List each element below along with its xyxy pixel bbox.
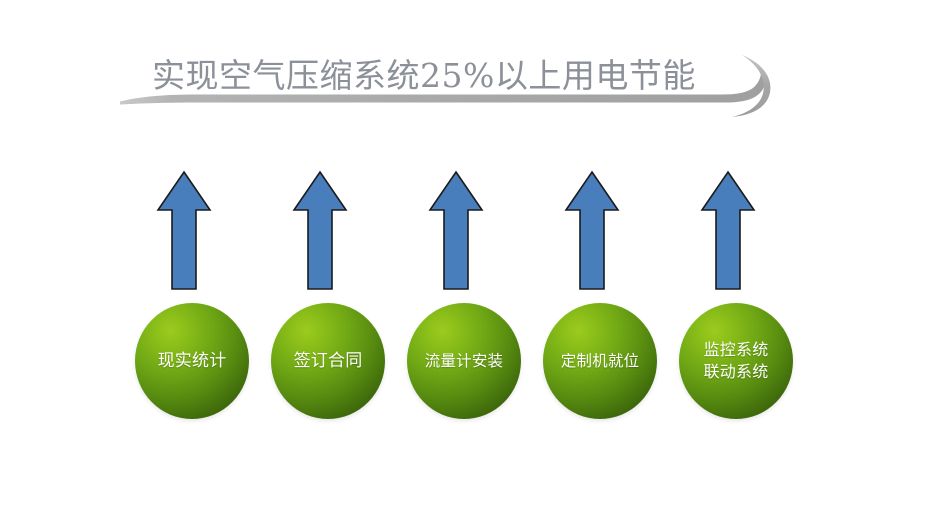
up-arrow-icon-1 [155,170,213,292]
up-arrow-icon-5 [699,170,757,292]
up-arrow-icon-3 [427,170,485,292]
process-step-5[interactable]: 监控系统 联动系统 [679,303,793,419]
process-step-label: 定制机就位 [557,351,644,372]
up-arrow-icon-4 [563,170,621,292]
page-title: 实现空气压缩系统25%以上用电节能 [152,48,752,104]
process-step-4[interactable]: 定制机就位 [543,303,657,419]
process-step-label: 现实统计 [154,351,231,372]
process-step-label: 流量计安装 [421,351,508,372]
process-step-2[interactable]: 签订合同 [271,303,385,419]
title-banner: 实现空气压缩系统25%以上用电节能 [118,34,790,138]
process-step-label: 签订合同 [290,351,367,372]
slide-canvas: 实现空气压缩系统25%以上用电节能 现实统计 签订合同 流量计安装 定制机就位 … [0,0,945,529]
process-step-label: 监控系统 联动系统 [700,339,773,383]
process-step-1[interactable]: 现实统计 [135,303,249,419]
process-step-3[interactable]: 流量计安装 [407,303,521,419]
up-arrow-icon-2 [291,170,349,292]
